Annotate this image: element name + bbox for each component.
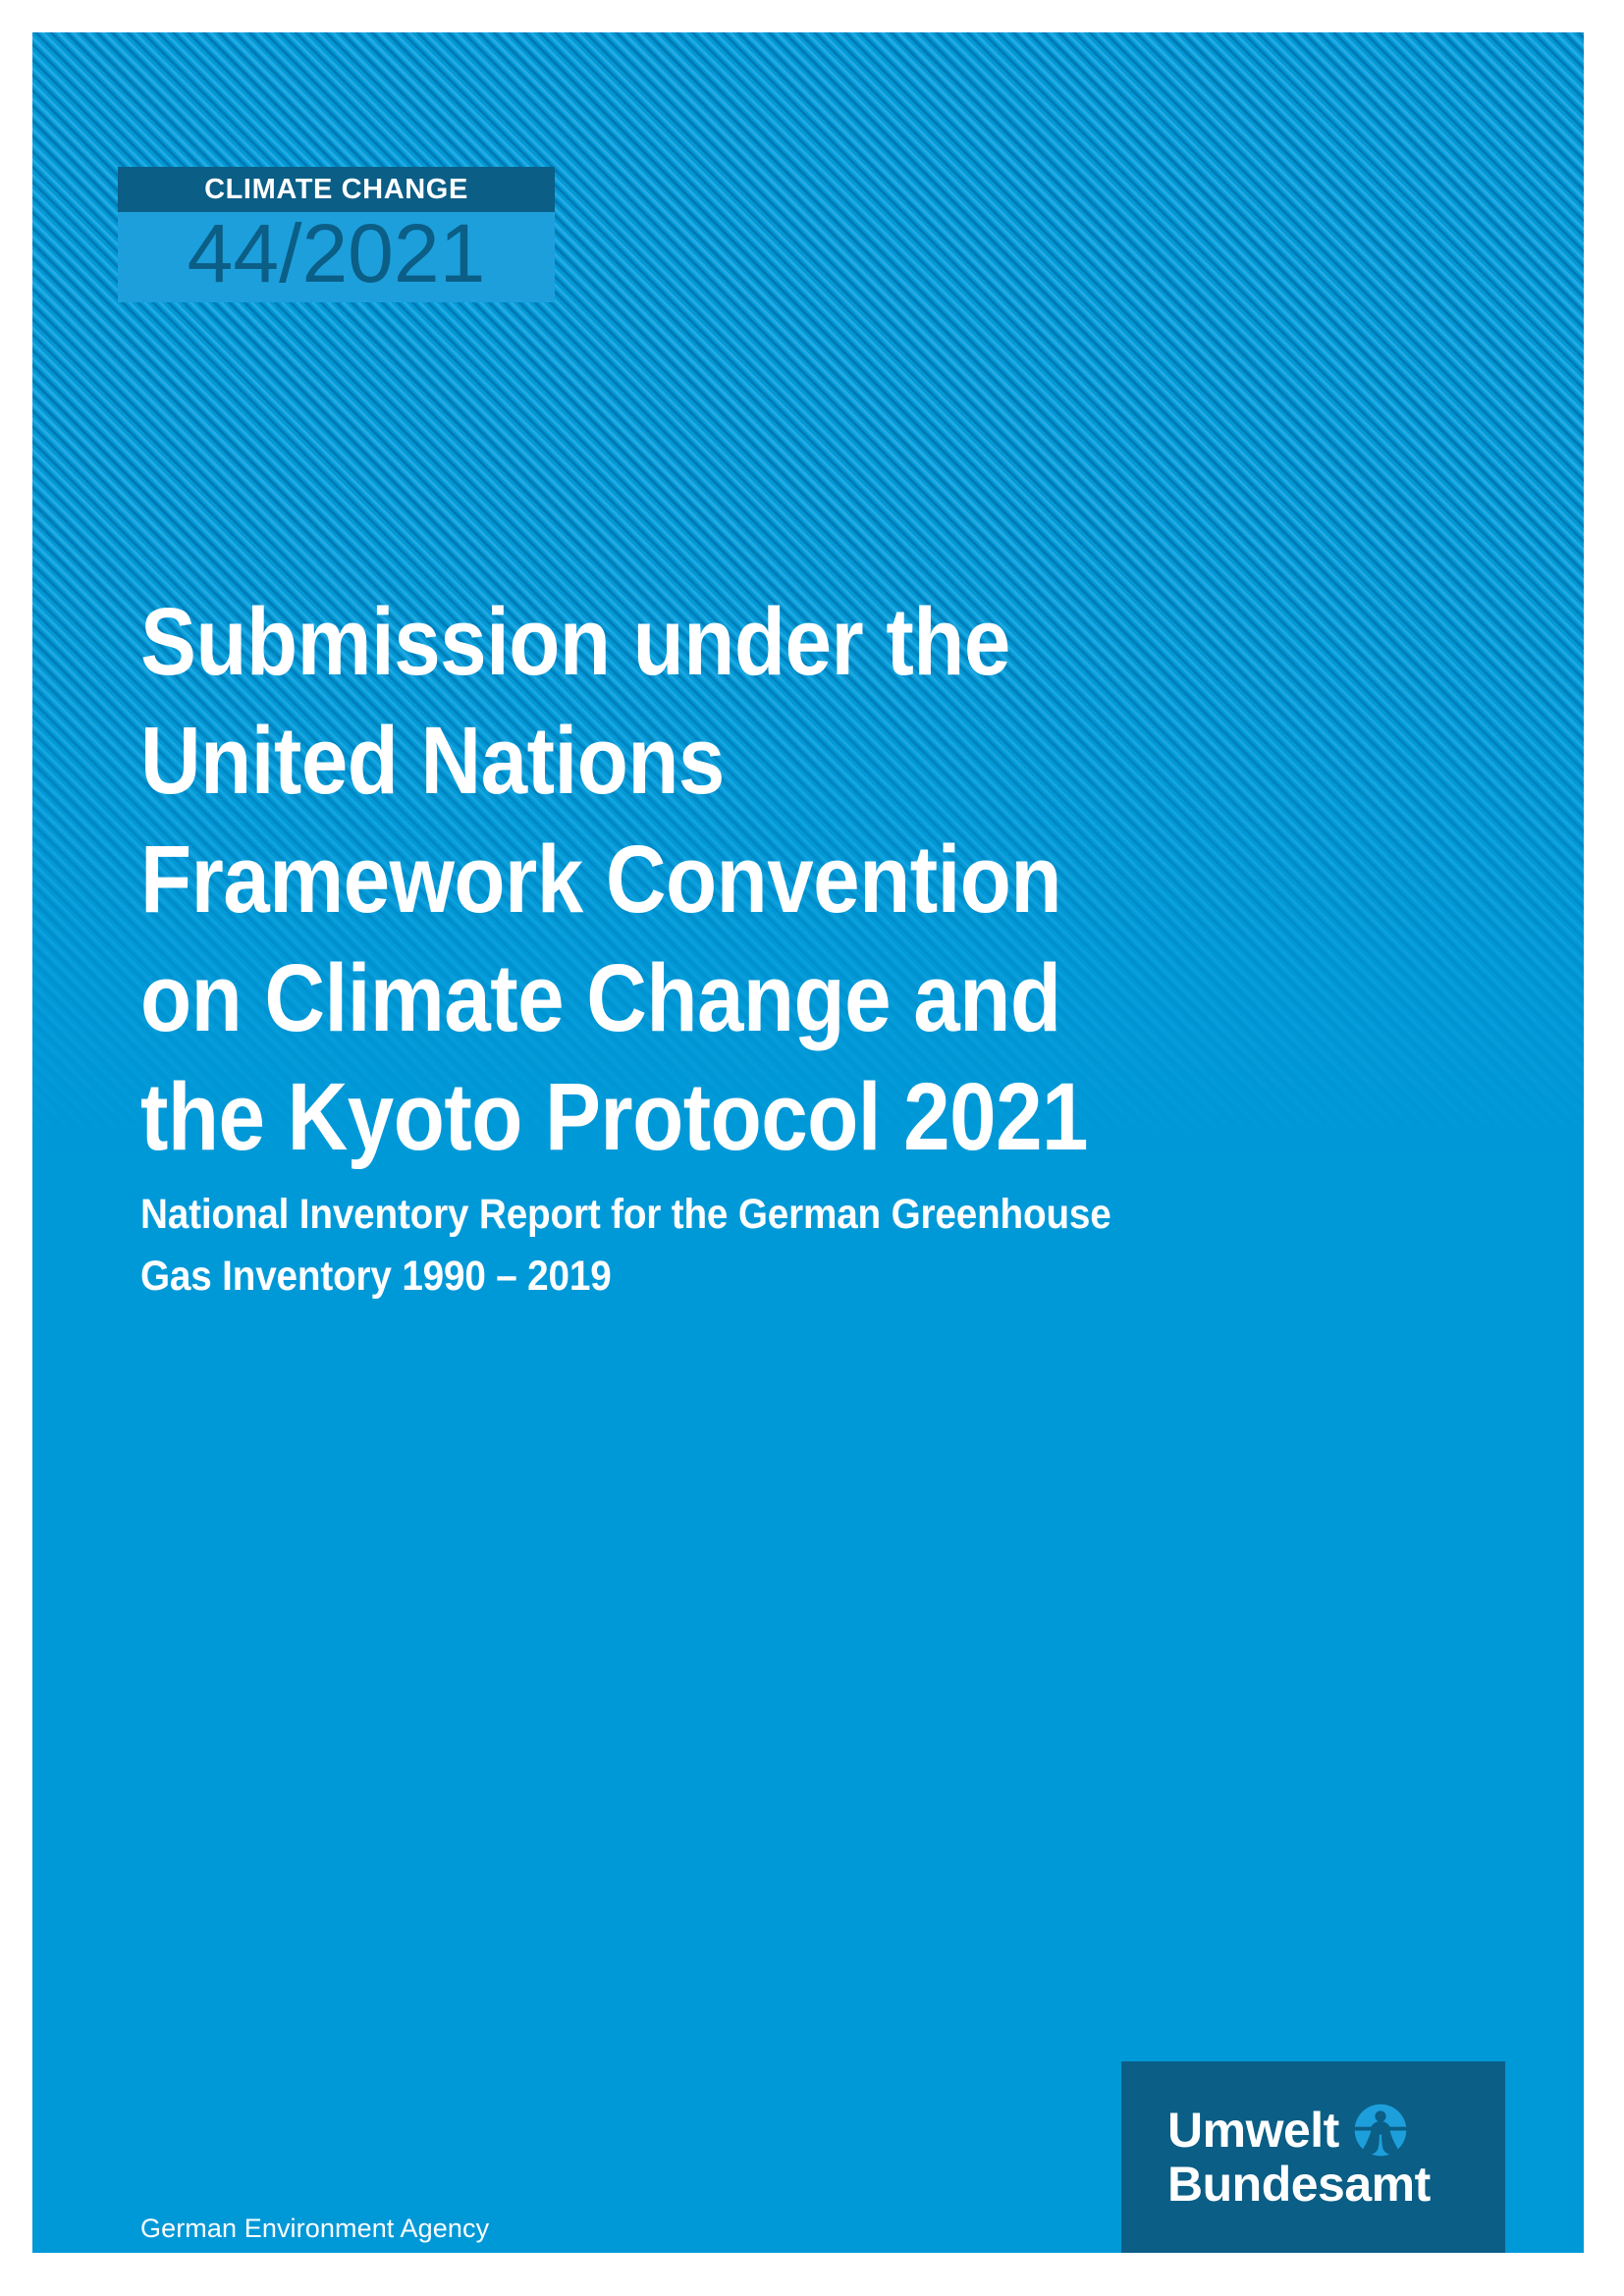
title-line: the Kyoto Protocol 2021 bbox=[140, 1057, 1368, 1176]
title-line: on Climate Change and bbox=[140, 938, 1368, 1057]
subtitle-line: National Inventory Report for the German… bbox=[140, 1184, 1395, 1246]
page-title: Submission under the United Nations Fram… bbox=[140, 582, 1535, 1176]
title-line: United Nations bbox=[140, 701, 1368, 820]
series-issue-number: 44/2021 bbox=[118, 212, 555, 302]
series-label: CLIMATE CHANGE bbox=[118, 167, 555, 212]
series-badge: CLIMATE CHANGE 44/2021 bbox=[118, 167, 555, 302]
agency-name-footer: German Environment Agency bbox=[140, 2214, 489, 2244]
title-line: Framework Convention bbox=[140, 820, 1368, 938]
umweltbundesamt-logo: Umwelt Bundesamt bbox=[1121, 2061, 1505, 2253]
uba-figure-in-circle-icon bbox=[1353, 2103, 1408, 2158]
logo-line-1: Umwelt bbox=[1167, 2104, 1339, 2158]
logo-line-2: Bundesamt bbox=[1167, 2158, 1472, 2212]
page-subtitle: National Inventory Report for the German… bbox=[140, 1184, 1535, 1308]
subtitle-line: Gas Inventory 1990 – 2019 bbox=[140, 1246, 1395, 1308]
cover-page: CLIMATE CHANGE 44/2021 Submission under … bbox=[32, 32, 1584, 2253]
title-line: Submission under the bbox=[140, 582, 1368, 701]
